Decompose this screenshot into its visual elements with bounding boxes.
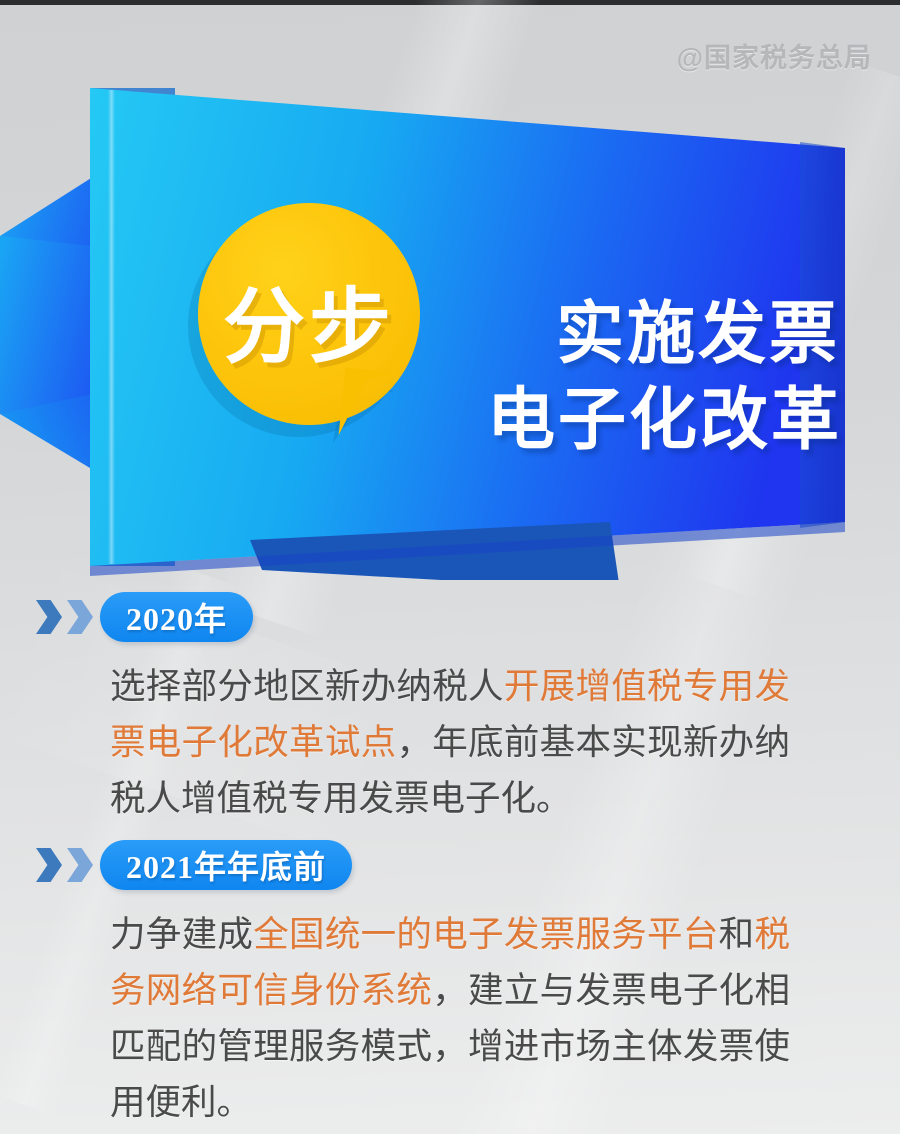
banner-title: 实施发票 电子化改革 bbox=[440, 292, 840, 463]
section-paragraph: 选择部分地区新办纳税人开展增值税专用发票电子化改革试点，年底前基本实现新办纳税人… bbox=[110, 658, 790, 826]
section-header: 2020年 bbox=[0, 592, 900, 646]
paragraph-span: 和 bbox=[719, 914, 755, 954]
chevron-right-icon bbox=[67, 848, 93, 882]
top-divider-bar bbox=[0, 0, 900, 5]
timeline-section-2021: 2021年年底前 力争建成全国统一的电子发票服务平台和税务网络可信身份系统，建立… bbox=[0, 840, 900, 1130]
double-chevron-right-icon bbox=[36, 848, 93, 882]
paragraph-span: 选择部分地区新办纳税人 bbox=[110, 666, 504, 706]
paragraph-span-highlight: 全国统一的电子发票服务平台 bbox=[253, 914, 718, 954]
bubble-label: 分步 bbox=[198, 203, 420, 425]
infographic-page: @国家税务总局 bbox=[0, 0, 900, 1134]
chevron-right-icon bbox=[36, 848, 62, 882]
paragraph-span: 力争建成 bbox=[110, 914, 253, 954]
timeline-section-2020: 2020年 选择部分地区新办纳税人开展增值税专用发票电子化改革试点，年底前基本实… bbox=[0, 592, 900, 826]
section-header: 2021年年底前 bbox=[0, 840, 900, 894]
banner-title-line-1: 实施发票 bbox=[440, 292, 840, 378]
section-paragraph: 力争建成全国统一的电子发票服务平台和税务网络可信身份系统，建立与发票电子化相匹配… bbox=[110, 906, 790, 1130]
hero-banner: 分步 实施发票 电子化改革 bbox=[0, 70, 900, 580]
double-chevron-right-icon bbox=[36, 600, 93, 634]
year-badge: 2020年 bbox=[100, 592, 253, 642]
year-badge: 2021年年底前 bbox=[100, 840, 352, 890]
chevron-right-icon bbox=[36, 600, 62, 634]
chevron-right-icon bbox=[67, 600, 93, 634]
banner-title-line-2: 电子化改革 bbox=[440, 378, 842, 464]
